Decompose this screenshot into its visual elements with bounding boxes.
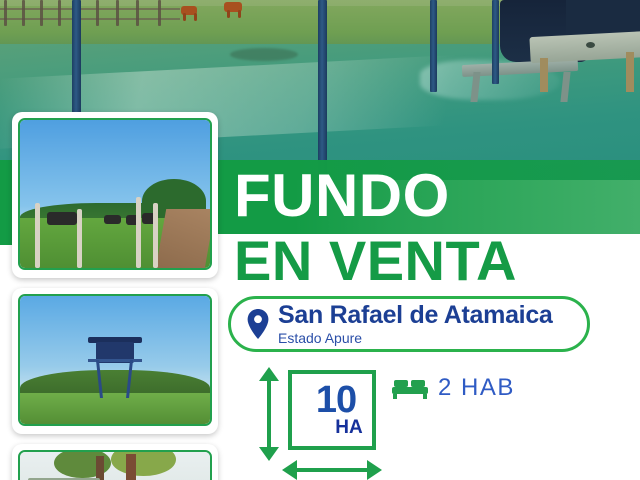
horizontal-dimension-arrow-icon [280, 456, 384, 480]
hero-cow-leg [227, 10, 230, 18]
hero-table-hole [586, 42, 595, 48]
photo-fence-post [35, 203, 40, 268]
gallery-card-trees-fence[interactable] [12, 444, 218, 480]
vertical-dimension-arrow-icon [254, 366, 284, 462]
hero-cow-leg [183, 13, 186, 21]
photo-fence-post [77, 209, 82, 268]
property-listing-poster: FUNDO EN VENTA [0, 0, 640, 480]
gallery-card-water-tower[interactable] [12, 288, 218, 434]
hero-table-leg [626, 52, 634, 92]
area-square-outline: 10 HA [288, 370, 376, 450]
area-spec-group: 10 HA [250, 366, 400, 480]
map-pin-icon [247, 309, 269, 339]
hero-support-post [492, 0, 499, 84]
fence-wire [0, 8, 180, 10]
photo-fence-post [153, 203, 158, 268]
photo-cow [104, 215, 121, 224]
photo-fence-post [136, 197, 141, 268]
photo-grass [20, 393, 210, 424]
hero-cow-leg [194, 13, 197, 21]
headline-primary: FUNDO [234, 163, 634, 229]
hero-table-leg [540, 58, 548, 92]
hero-fence-row [0, 0, 180, 30]
headline-group: FUNDO EN VENTA [234, 163, 634, 291]
area-value: 10 [292, 380, 380, 420]
hero-support-post [430, 0, 437, 92]
photo-trees-fence [18, 450, 212, 480]
headline-secondary: EN VENTA [234, 231, 634, 291]
photo-treeline [20, 370, 210, 396]
gallery-card-cattle-pasture[interactable] [12, 112, 218, 278]
area-unit: HA [292, 418, 380, 438]
bed-icon [392, 377, 428, 399]
photo-tree-trunk [96, 456, 104, 480]
rooms-label: 2 HAB [438, 374, 515, 402]
fence-wire [0, 18, 180, 20]
photo-cow [47, 212, 77, 225]
photo-water-tower [18, 294, 212, 426]
photo-tree-trunk [126, 454, 136, 480]
photo-cattle-pasture [18, 118, 212, 270]
hero-cow-leg [238, 10, 241, 18]
hero-support-post [318, 0, 327, 180]
location-city: San Rafael de Atamaica [278, 302, 553, 329]
photo-dirt-road [155, 209, 212, 268]
rooms-spec-group: 2 HAB [392, 374, 515, 402]
location-pill[interactable]: San Rafael de Atamaica Estado Apure [228, 296, 590, 352]
location-state: Estado Apure [278, 330, 553, 346]
hero-puddle [230, 48, 298, 61]
